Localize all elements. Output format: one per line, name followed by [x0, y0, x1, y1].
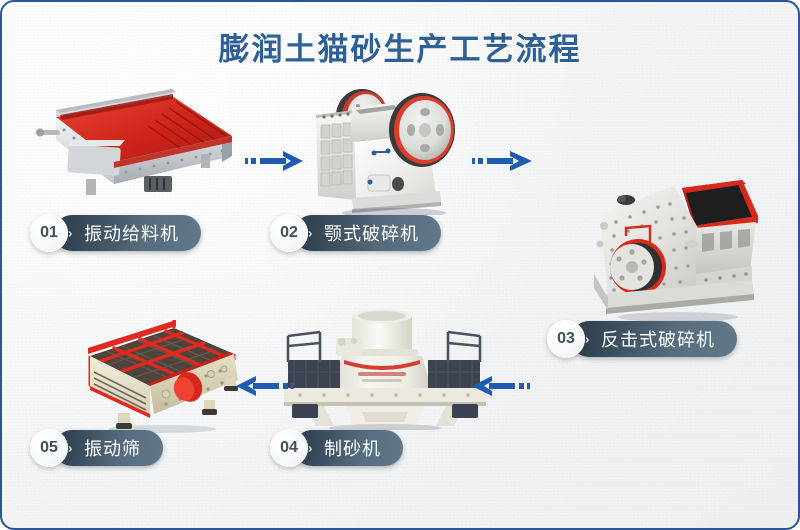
chevron-right-icon: ›: [68, 441, 73, 456]
step-number-badge-05: 05: [30, 429, 68, 467]
arrow-feeder-to-jaw: [245, 147, 305, 175]
step-label-03[interactable]: 03 › 反击式破碎机: [547, 320, 737, 358]
step-label-text-01: 振动给料机: [84, 220, 179, 246]
step-label-02[interactable]: 02 › 颚式破碎机: [270, 214, 441, 252]
step-label-04[interactable]: 04 › 制砂机: [270, 429, 403, 467]
chevron-right-icon: ›: [308, 441, 313, 456]
chevron-right-icon: ›: [68, 226, 73, 241]
step-pill-02[interactable]: › 颚式破碎机: [294, 215, 441, 251]
vibrating-screen-image: [58, 314, 244, 434]
chevron-right-icon: ›: [308, 226, 313, 241]
step-pill-04[interactable]: › 制砂机: [294, 430, 403, 466]
step-label-text-04: 制砂机: [324, 435, 381, 461]
step-number-badge-04: 04: [270, 429, 308, 467]
step-label-text-03: 反击式破碎机: [601, 326, 715, 352]
page-title: 膨润土猫砂生产工艺流程: [2, 24, 798, 69]
step-number-badge-02: 02: [270, 214, 308, 252]
sand-making-machine-image: [280, 302, 490, 430]
step-label-01[interactable]: 01 › 振动给料机: [30, 214, 201, 252]
step-label-05[interactable]: 05 › 振动筛: [30, 429, 163, 467]
impact-crusher-image: [574, 174, 782, 322]
chevron-right-icon: ›: [585, 332, 590, 347]
arrow-jaw-to-impact: [472, 147, 534, 175]
step-pill-03[interactable]: › 反击式破碎机: [571, 321, 737, 357]
step-number-badge-01: 01: [30, 214, 68, 252]
jaw-crusher-image: [294, 80, 474, 215]
step-label-text-05: 振动筛: [84, 435, 141, 461]
step-label-text-02: 颚式破碎机: [324, 220, 419, 246]
arrow-sandmaker-to-screen: [234, 372, 296, 400]
step-pill-05[interactable]: › 振动筛: [54, 430, 163, 466]
flowchart-canvas: 膨润土猫砂生产工艺流程: [0, 0, 800, 530]
vibrating-feeder-image: [26, 84, 246, 209]
arrow-impact-to-sandmaker: [470, 372, 532, 400]
step-pill-01[interactable]: › 振动给料机: [54, 215, 201, 251]
step-number-badge-03: 03: [547, 320, 585, 358]
